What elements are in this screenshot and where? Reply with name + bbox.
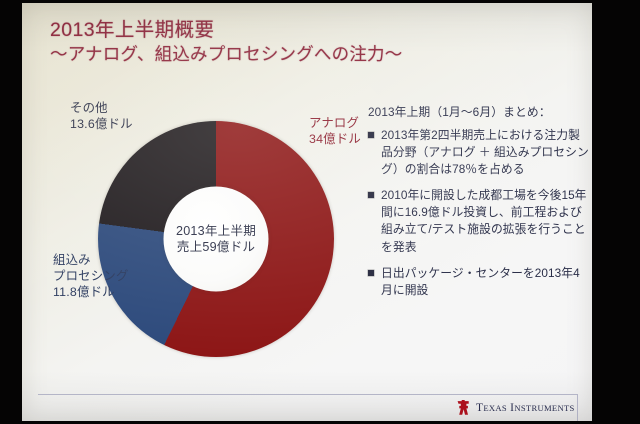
page-subtitle: 〜アナログ、組込みプロセシングへの注力〜 xyxy=(50,44,470,65)
chart-label-embedded-value: 11.8億ドル xyxy=(53,285,129,301)
summary-bullet-text: 2010年に開設した成都工場を今後15年間に16.9億ドル投資し、前工程および組… xyxy=(381,187,590,255)
summary-bullet: 2013年第2四半期売上における注力製品分野（アナログ ＋ 組込みプロセシング）… xyxy=(368,127,590,178)
summary-heading: 2013年上期（1月〜6月）まとめ： xyxy=(368,103,590,120)
texas-instruments-logo: TEXAS INSTRUMENTS xyxy=(456,400,575,415)
donut-center-label: 2013年上半期 売上59億ドル xyxy=(39,223,393,255)
page-title: 2013年上半期概要 xyxy=(50,20,470,40)
summary-bullet-text: 日出パッケージ・センターを2013年4月に開設 xyxy=(381,265,590,299)
chart-label-other-name: その他 xyxy=(70,101,133,117)
chart-label-embedded-name2: プロセシング xyxy=(53,269,129,285)
chart-label-analog: アナログ 34億ドル xyxy=(309,116,361,148)
footer-divider-right xyxy=(577,394,578,421)
square-bullet-icon xyxy=(368,192,374,198)
chart-label-other-value: 13.6億ドル xyxy=(70,117,133,133)
texas-instruments-mark-icon xyxy=(456,400,470,415)
donut-chart: 2013年上半期 売上59億ドル xyxy=(98,121,334,357)
slide-canvas: 2013年上半期概要 〜アナログ、組込みプロセシングへの注力〜 2013年上半期… xyxy=(22,3,592,421)
projected-slide-photo: 2013年上半期概要 〜アナログ、組込みプロセシングへの注力〜 2013年上半期… xyxy=(0,0,640,424)
chart-label-analog-value: 34億ドル xyxy=(309,132,361,148)
chart-label-embedded-processing: 組込み プロセシング 11.8億ドル xyxy=(53,253,129,301)
footer-divider xyxy=(38,394,578,395)
summary-bullet-text: 2013年第2四半期売上における注力製品分野（アナログ ＋ 組込みプロセシング）… xyxy=(381,127,590,178)
chart-label-analog-name: アナログ xyxy=(309,116,361,132)
square-bullet-icon xyxy=(368,270,374,276)
brand-exas: EXAS xyxy=(483,403,507,413)
summary-bullet: 2010年に開設した成都工場を今後15年間に16.9億ドル投資し、前工程および組… xyxy=(368,187,590,255)
chart-label-other: その他 13.6億ドル xyxy=(70,101,133,133)
donut-center-line1: 2013年上半期 xyxy=(39,223,393,239)
slide-title-block: 2013年上半期概要 〜アナログ、組込みプロセシングへの注力〜 xyxy=(50,20,470,65)
brand-nstruments: NSTRUMENTS xyxy=(514,403,574,413)
summary-column: 2013年上期（1月〜6月）まとめ： 2013年第2四半期売上における注力製品分… xyxy=(368,103,590,308)
summary-bullet: 日出パッケージ・センターを2013年4月に開設 xyxy=(368,265,590,299)
chart-label-embedded-name1: 組込み xyxy=(53,253,129,269)
square-bullet-icon xyxy=(368,132,374,138)
texas-instruments-wordmark: TEXAS INSTRUMENTS xyxy=(476,402,575,414)
